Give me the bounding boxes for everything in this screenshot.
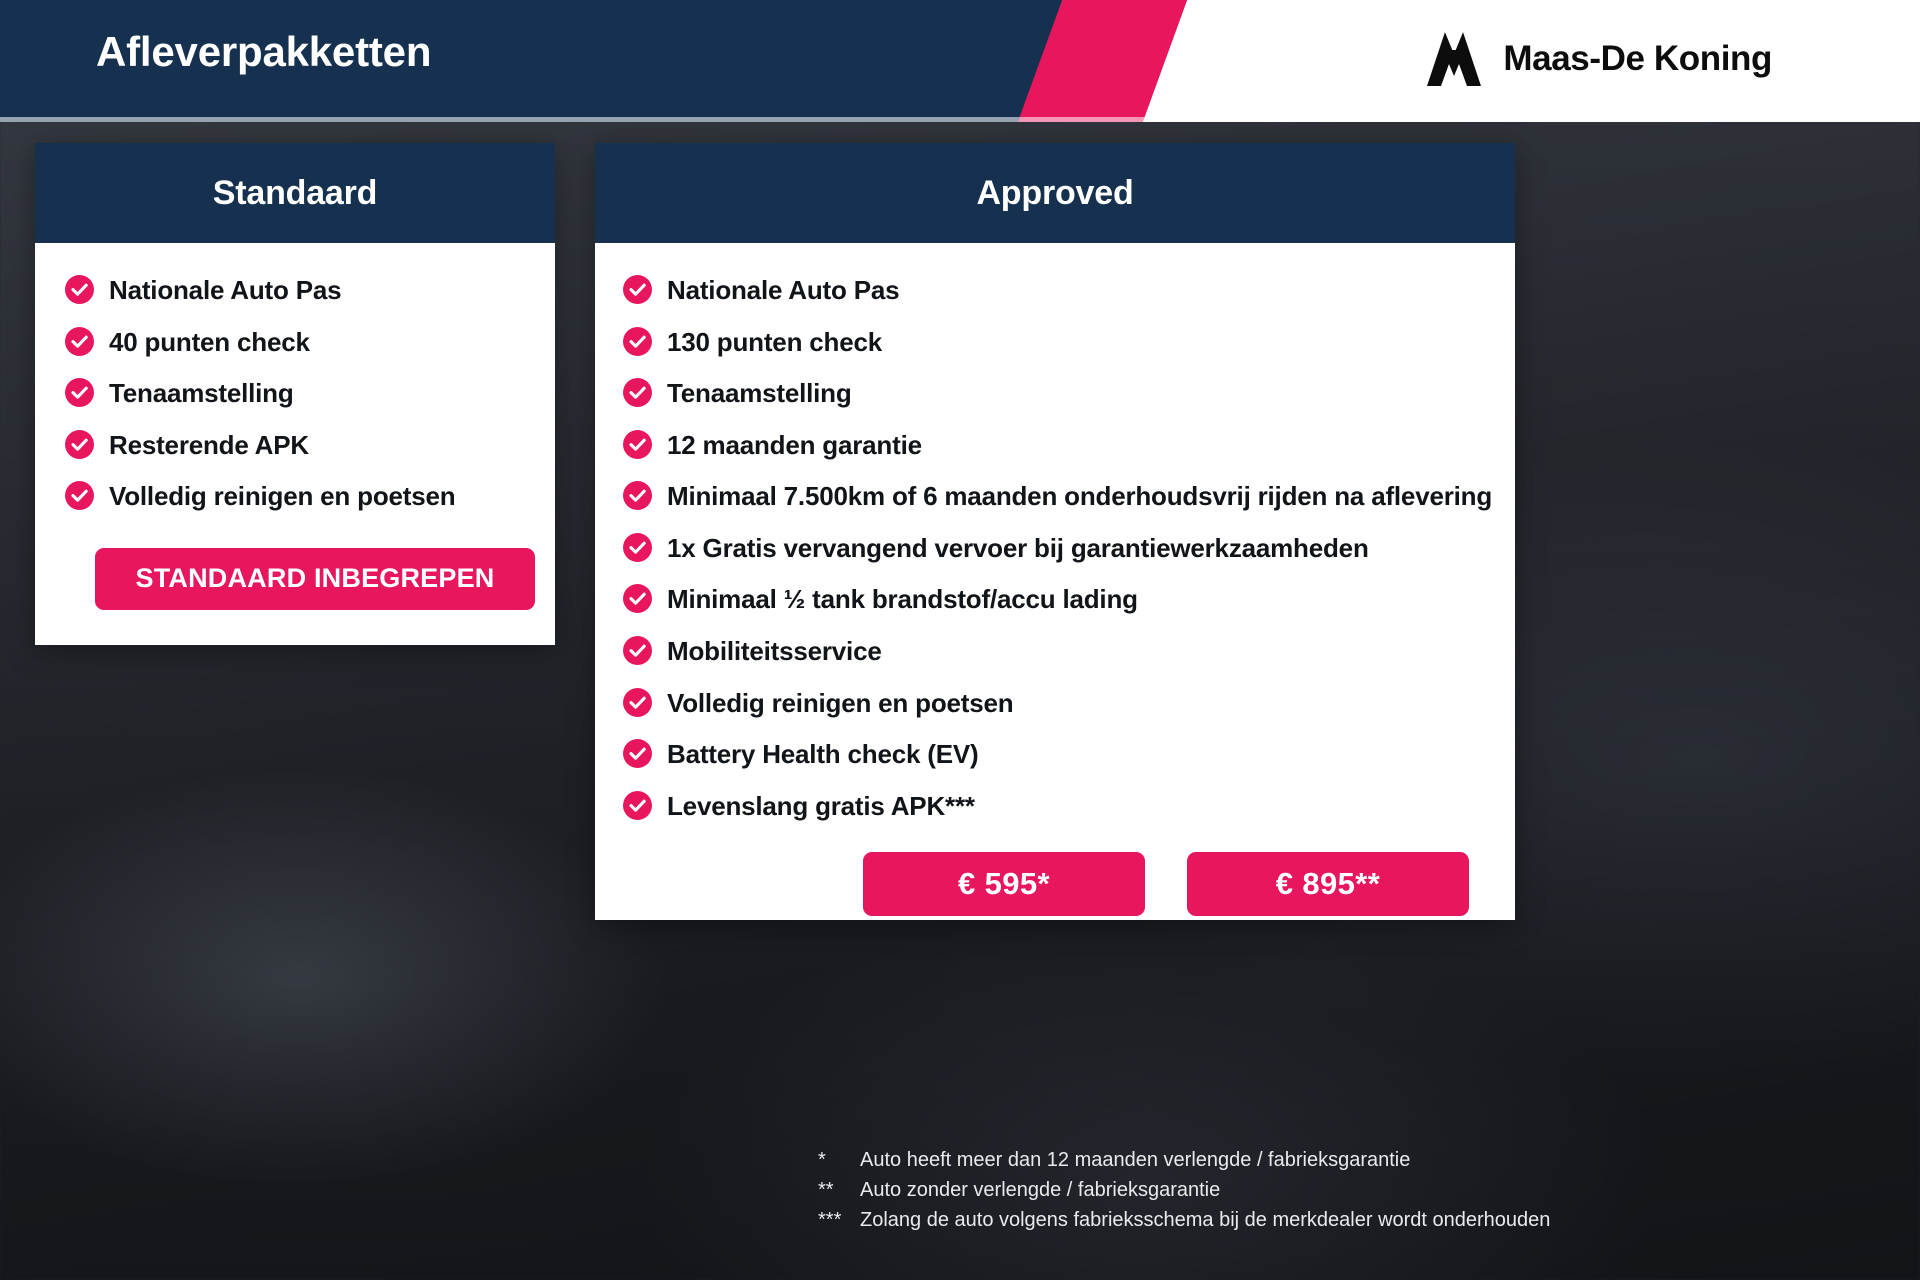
footnote-row: **Auto zonder verlengde / fabrieksgarant… <box>818 1178 1550 1203</box>
feature-label: Nationale Auto Pas <box>667 273 899 308</box>
footnote-marker: * <box>818 1148 860 1173</box>
feature-label: 130 punten check <box>667 325 882 360</box>
check-circle-icon <box>623 327 652 356</box>
brand-lockup: Maas-De Koning <box>1423 30 1772 88</box>
feature-label: 1x Gratis vervangend vervoer bij garanti… <box>667 531 1369 566</box>
feature-label: 12 maanden garantie <box>667 428 922 463</box>
check-circle-icon <box>65 275 94 304</box>
feature-item: Tenaamstelling <box>623 376 1493 411</box>
feature-item: Minimaal 7.500km of 6 maanden onderhouds… <box>623 479 1493 514</box>
feature-label: Tenaamstelling <box>667 376 852 411</box>
price-button-1[interactable]: € 595* <box>863 852 1145 916</box>
card-header-standaard: Standaard <box>35 143 555 243</box>
feature-list-standaard: Nationale Auto Pas40 punten checkTenaams… <box>65 273 537 514</box>
package-card-standaard: Standaard Nationale Auto Pas40 punten ch… <box>35 143 555 645</box>
footnote-text: Auto heeft meer dan 12 maanden verlengde… <box>860 1148 1410 1173</box>
check-circle-icon <box>65 430 94 459</box>
check-circle-icon <box>623 481 652 510</box>
feature-item: Volledig reinigen en poetsen <box>623 686 1493 721</box>
check-circle-icon <box>623 275 652 304</box>
feature-label: 40 punten check <box>109 325 310 360</box>
feature-label: Battery Health check (EV) <box>667 737 978 772</box>
feature-item: 40 punten check <box>65 325 537 360</box>
feature-label: Volledig reinigen en poetsen <box>667 686 1013 721</box>
header-divider <box>0 117 1920 122</box>
feature-item: Minimaal ½ tank brandstof/accu lading <box>623 582 1493 617</box>
footnote-marker: ** <box>818 1178 860 1203</box>
feature-item: Levenslang gratis APK*** <box>623 789 1493 824</box>
card-title-approved: Approved <box>976 174 1133 213</box>
footnotes: *Auto heeft meer dan 12 maanden verlengd… <box>818 1148 1550 1239</box>
standaard-inbegrepen-button[interactable]: STANDAARD INBEGREPEN <box>95 548 535 610</box>
feature-label: Nationale Auto Pas <box>109 273 341 308</box>
check-circle-icon <box>65 378 94 407</box>
feature-label: Resterende APK <box>109 428 309 463</box>
feature-item: Tenaamstelling <box>65 376 537 411</box>
card-body-approved: Nationale Auto Pas130 punten checkTenaam… <box>595 243 1515 916</box>
feature-label: Minimaal ½ tank brandstof/accu lading <box>667 582 1138 617</box>
footnote-row: *Auto heeft meer dan 12 maanden verlengd… <box>818 1148 1550 1173</box>
check-circle-icon <box>623 533 652 562</box>
price-button-2[interactable]: € 895** <box>1187 852 1469 916</box>
feature-item: Battery Health check (EV) <box>623 737 1493 772</box>
feature-item: 12 maanden garantie <box>623 428 1493 463</box>
check-circle-icon <box>623 791 652 820</box>
check-circle-icon <box>623 636 652 665</box>
price-button-row: € 595*€ 895** <box>623 840 1493 916</box>
check-circle-icon <box>623 378 652 407</box>
check-circle-icon <box>623 430 652 459</box>
feature-item: Mobiliteitsservice <box>623 634 1493 669</box>
card-title-standaard: Standaard <box>213 174 377 213</box>
feature-item: Volledig reinigen en poetsen <box>65 479 537 514</box>
check-circle-icon <box>623 584 652 613</box>
feature-label: Minimaal 7.500km of 6 maanden onderhouds… <box>667 479 1492 514</box>
feature-label: Levenslang gratis APK*** <box>667 789 975 824</box>
feature-label: Mobiliteitsservice <box>667 634 882 669</box>
maas-de-koning-m-logo-icon <box>1423 30 1485 88</box>
page-header: Afleverpakketten Maas-De Koning <box>0 0 1920 122</box>
package-card-approved: Approved Nationale Auto Pas130 punten ch… <box>595 143 1515 920</box>
feature-item: 1x Gratis vervangend vervoer bij garanti… <box>623 531 1493 566</box>
feature-item: Nationale Auto Pas <box>623 273 1493 308</box>
check-circle-icon <box>623 739 652 768</box>
page-title: Afleverpakketten <box>96 28 431 76</box>
feature-item: Nationale Auto Pas <box>65 273 537 308</box>
feature-label: Volledig reinigen en poetsen <box>109 479 455 514</box>
footnote-text: Zolang de auto volgens fabrieksschema bi… <box>860 1208 1550 1233</box>
brand-name: Maas-De Koning <box>1503 39 1772 79</box>
feature-item: 130 punten check <box>623 325 1493 360</box>
feature-item: Resterende APK <box>65 428 537 463</box>
check-circle-icon <box>65 327 94 356</box>
footnote-marker: *** <box>818 1208 860 1233</box>
card-body-standaard: Nationale Auto Pas40 punten checkTenaams… <box>35 243 555 610</box>
card-header-approved: Approved <box>595 143 1515 243</box>
check-circle-icon <box>623 688 652 717</box>
footnote-text: Auto zonder verlengde / fabrieksgarantie <box>860 1178 1220 1203</box>
check-circle-icon <box>65 481 94 510</box>
feature-list-approved: Nationale Auto Pas130 punten checkTenaam… <box>623 273 1493 823</box>
footnote-row: ***Zolang de auto volgens fabrieksschema… <box>818 1208 1550 1233</box>
feature-label: Tenaamstelling <box>109 376 294 411</box>
